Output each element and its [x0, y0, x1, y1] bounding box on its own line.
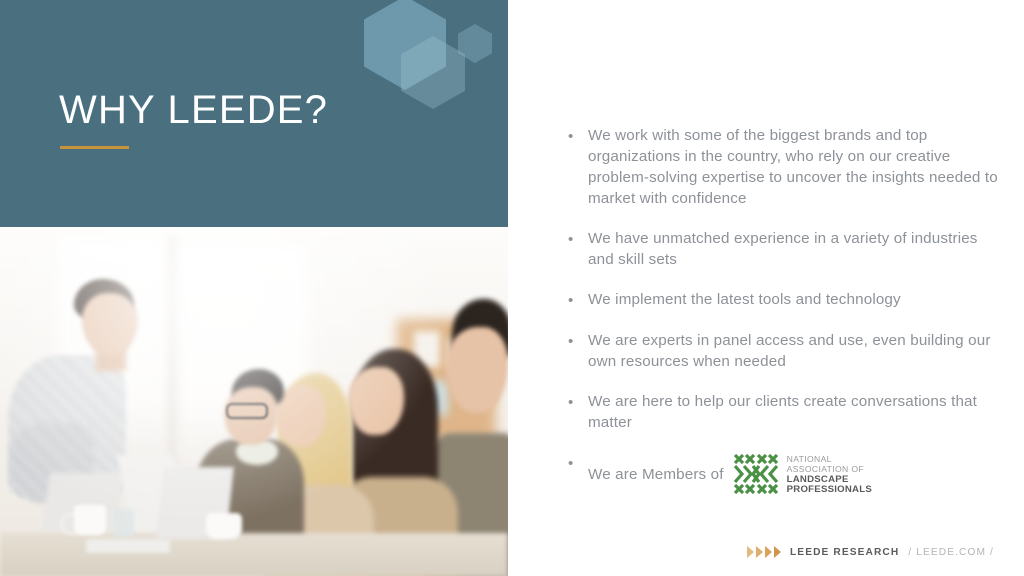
bullet-marker-icon: • — [568, 391, 588, 413]
nalp-chevron-mark-icon — [732, 452, 780, 496]
bullet-marker-icon: • — [568, 125, 588, 147]
list-item: • We work with some of the biggest brand… — [568, 125, 1006, 209]
bullet-text: We have unmatched experience in a variet… — [588, 228, 1006, 270]
team-meeting-photo — [0, 227, 508, 576]
bullet-marker-icon: • — [568, 289, 588, 311]
list-item: • We are here to help our clients create… — [568, 391, 1006, 433]
footer-arrows-icon — [747, 546, 781, 558]
list-item: • We have unmatched experience in a vari… — [568, 228, 1006, 270]
list-item-membership: • We are Members of — [568, 452, 1006, 496]
footer: LEEDE RESEARCH / LEEDE.COM / — [747, 546, 994, 558]
nalp-wordmark: NATIONAL ASSOCIATION OF LANDSCAPE PROFES… — [787, 453, 872, 496]
nalp-line-professionals: PROFESSIONALS — [787, 485, 872, 496]
bullet-marker-icon: • — [568, 452, 588, 474]
footer-brand-text: LEEDE RESEARCH — [790, 547, 899, 558]
bullet-text: We are here to help our clients create c… — [588, 391, 1006, 433]
nalp-logo: NATIONAL ASSOCIATION OF LANDSCAPE PROFES… — [732, 452, 872, 496]
list-item: • We implement the latest tools and tech… — [568, 289, 1006, 311]
left-column: WHY LEEDE? — [0, 0, 508, 576]
bullet-text: We are experts in panel access and use, … — [588, 330, 1006, 372]
list-item: • We are experts in panel access and use… — [568, 330, 1006, 372]
bullet-text: We work with some of the biggest brands … — [588, 125, 1006, 209]
bullet-text: We are Members of — [588, 464, 724, 485]
page-title: WHY LEEDE? — [59, 86, 328, 134]
bullet-list: • We work with some of the biggest brand… — [568, 125, 1006, 496]
nalp-line-national: NATIONAL — [787, 454, 872, 465]
content-column: • We work with some of the biggest brand… — [508, 0, 1024, 576]
bullet-text: We implement the latest tools and techno… — [588, 289, 1006, 310]
title-panel: WHY LEEDE? — [0, 0, 508, 227]
slide-why-leede: WHY LEEDE? — [0, 0, 1024, 576]
bullet-marker-icon: • — [568, 330, 588, 352]
bullet-marker-icon: • — [568, 228, 588, 250]
title-underline-rule — [60, 146, 129, 149]
footer-site-text: / LEEDE.COM / — [908, 547, 994, 558]
nalp-line-association: ASSOCIATION OF — [787, 464, 872, 475]
